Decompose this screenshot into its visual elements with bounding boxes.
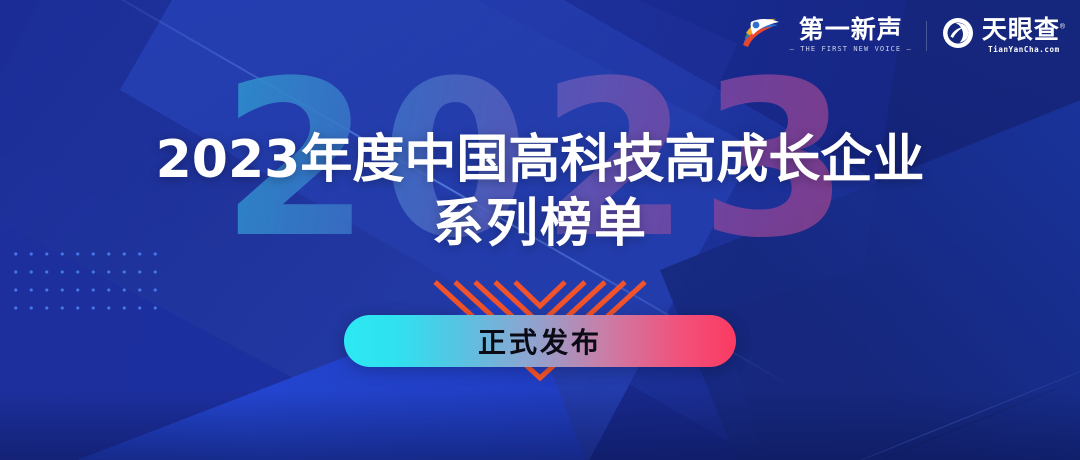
diyixinsheng-tagline: — THE FIRST NEW VOICE — — [790, 46, 912, 53]
logo-diyixinsheng[interactable]: 第一新声 — THE FIRST NEW VOICE — — [739, 14, 912, 57]
tianyancha-text: 天眼查® TianYanCha.com — [982, 18, 1066, 54]
title-line-2: 系列榜单 — [0, 196, 1080, 252]
tianyancha-mark-icon — [941, 16, 975, 55]
diyixinsheng-text: 第一新声 — THE FIRST NEW VOICE — — [790, 18, 912, 53]
tianyancha-trademark-icon: ® — [1060, 23, 1066, 30]
diyixinsheng-mark-icon — [739, 14, 783, 57]
logo-bar: 第一新声 — THE FIRST NEW VOICE — 天眼查® TianYa… — [739, 14, 1066, 57]
poster-title: 2023年度中国高科技高成长企业 系列榜单 — [0, 132, 1080, 252]
tianyancha-name: 天眼查® — [982, 18, 1066, 43]
logo-divider — [926, 21, 927, 51]
release-status-pill[interactable]: 正式发布 — [344, 315, 736, 367]
logo-tianyancha[interactable]: 天眼查® TianYanCha.com — [941, 16, 1066, 55]
title-line-1: 2023年度中国高科技高成长企业 — [0, 132, 1080, 188]
background-hairline-bottom-right-1 — [730, 362, 1080, 460]
poster-canvas: 2023 第一新声 — THE FIRST NEW VOICE — — [0, 0, 1080, 460]
diyixinsheng-name: 第一新声 — [799, 18, 903, 43]
release-status-label: 正式发布 — [478, 321, 602, 361]
background-hairline-bottom-right-2 — [730, 355, 1080, 460]
tianyancha-domain: TianYanCha.com — [988, 46, 1060, 54]
